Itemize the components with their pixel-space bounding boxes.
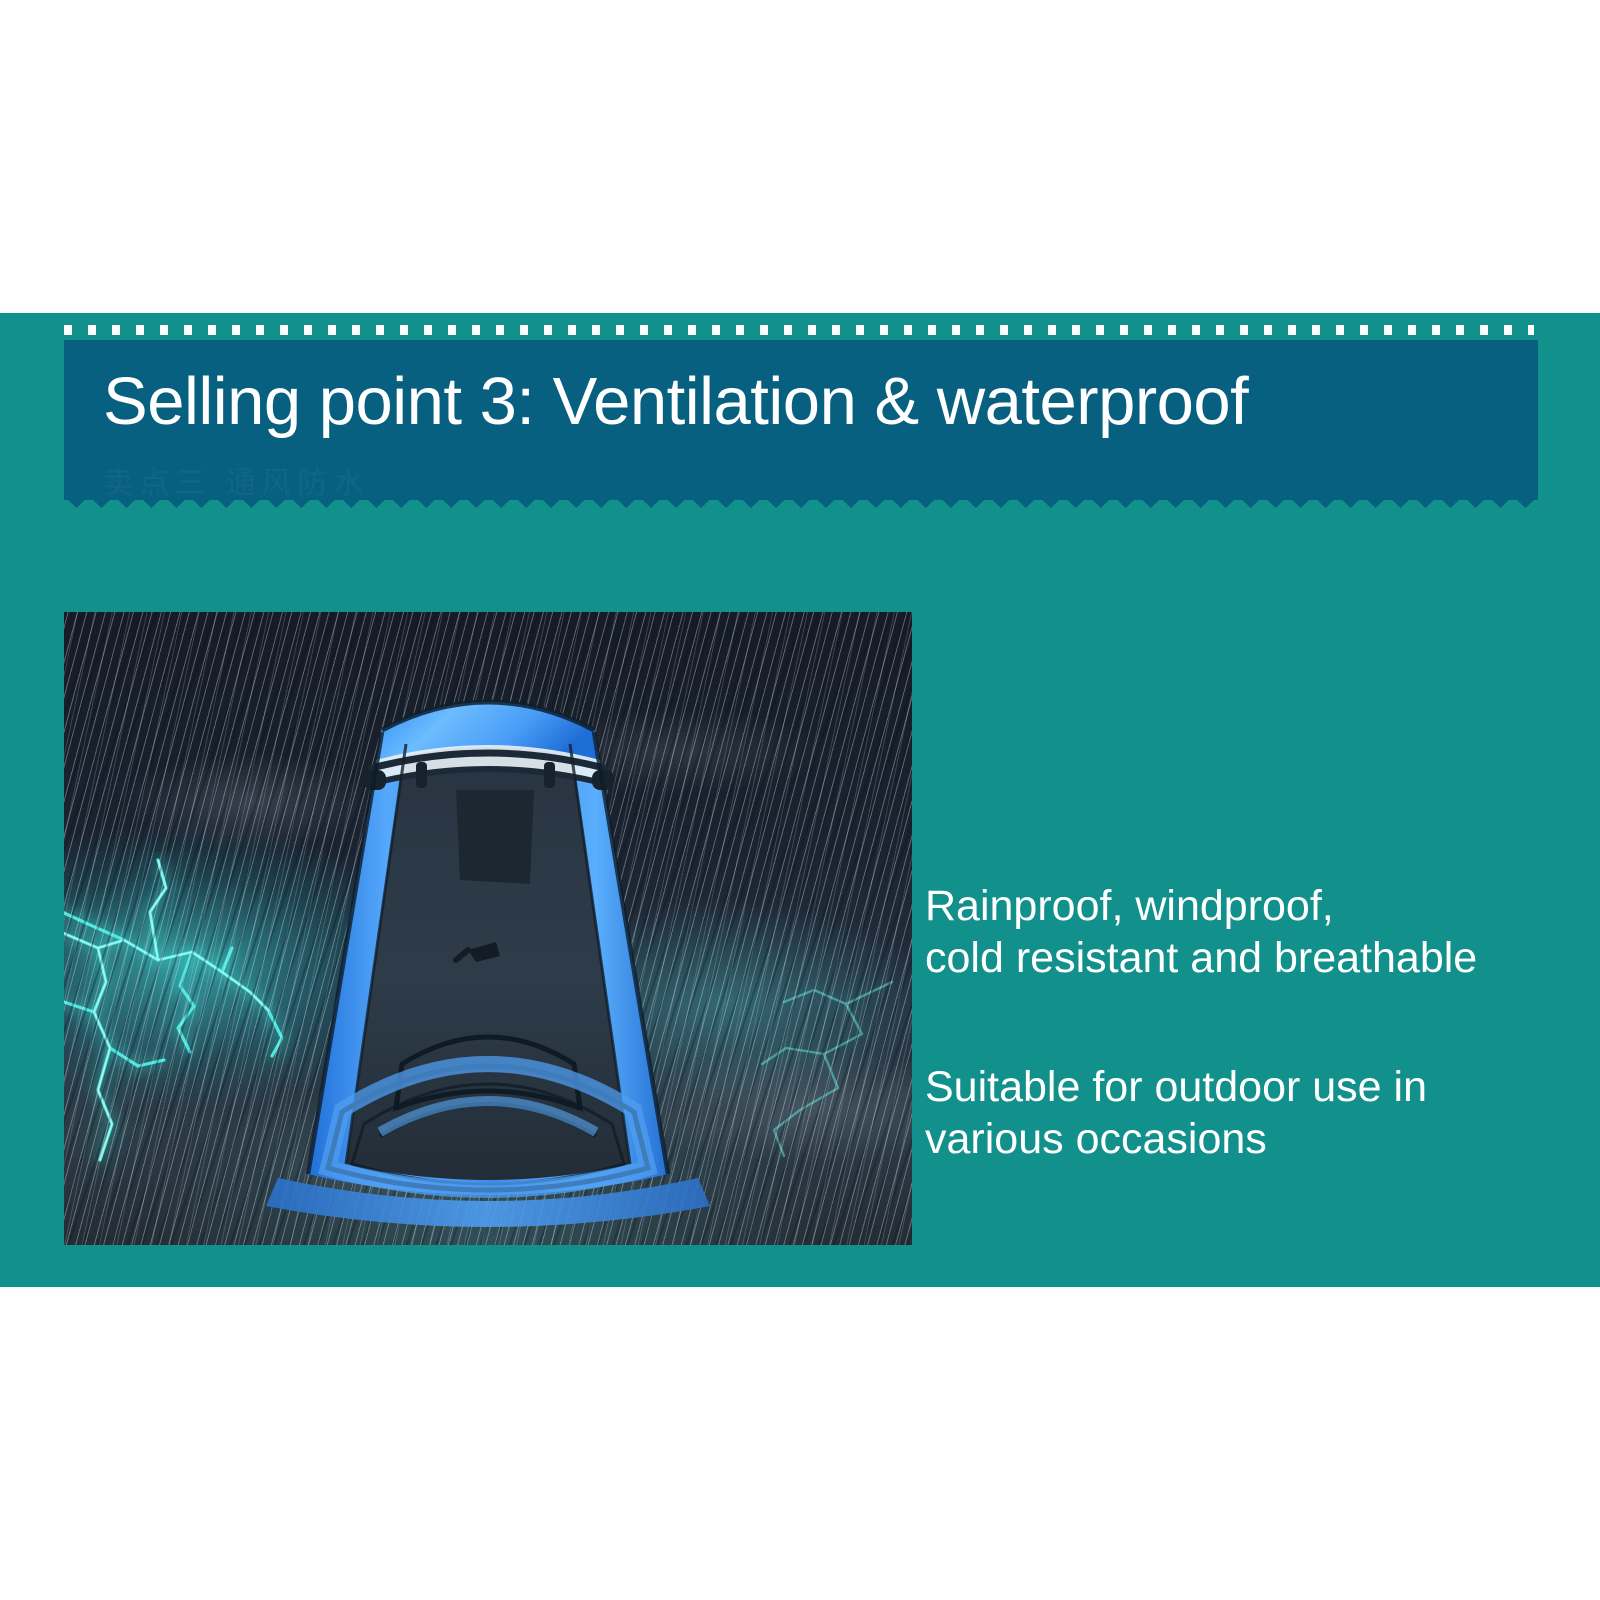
title-ghost-subtitle: 卖点三 通风防水 <box>103 458 369 502</box>
feature-line: various occasions <box>925 1113 1525 1165</box>
dotted-rule-decoration <box>64 325 1534 335</box>
feature-line: Rainproof, windproof, <box>925 880 1525 932</box>
page-title: Selling point 3: Ventilation & waterproo… <box>103 368 1503 435</box>
product-photo <box>64 612 912 1245</box>
tent-illustration <box>64 612 912 1245</box>
slide-canvas: Selling point 3: Ventilation & waterproo… <box>0 0 1600 1600</box>
feature-text-block-1: Rainproof, windproof, cold resistant and… <box>925 880 1525 984</box>
feature-text-block-2: Suitable for outdoor use in various occa… <box>925 1061 1525 1165</box>
title-banner: Selling point 3: Ventilation & waterproo… <box>64 340 1538 512</box>
feature-line: cold resistant and breathable <box>925 932 1525 984</box>
feature-line: Suitable for outdoor use in <box>925 1061 1525 1113</box>
